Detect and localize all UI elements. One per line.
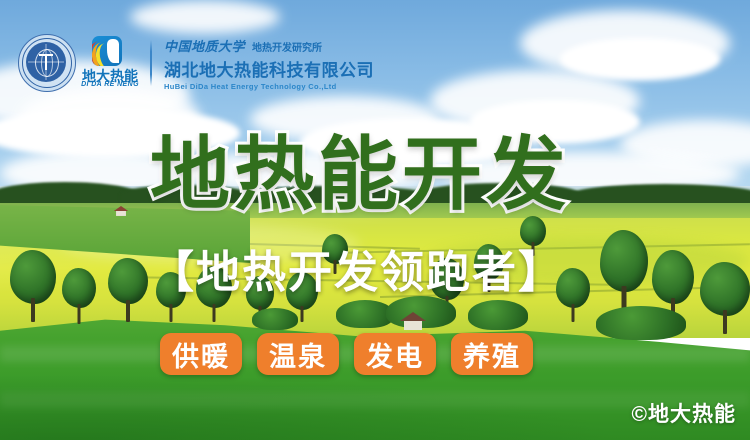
tree xyxy=(700,262,750,334)
copyright-watermark: ©地大热能 xyxy=(632,398,736,428)
brand-header: 地大热能 DI DA RE NENG 中国地质大学 地热开发研究所 湖北地大热能… xyxy=(18,30,374,96)
tree xyxy=(600,230,648,316)
farmhouse xyxy=(114,206,128,216)
main-title: 地热能开发 xyxy=(150,133,570,217)
shrub xyxy=(252,308,298,330)
tree xyxy=(10,250,56,322)
dida-logo-icon: 地大热能 DI DA RE NENG xyxy=(86,35,134,91)
badge-heating[interactable]: 供暖 xyxy=(160,333,242,375)
tree xyxy=(62,268,96,324)
tree xyxy=(108,258,148,322)
organisation-text-block: 中国地质大学 地热开发研究所 湖北地大热能科技有限公司 HuBei DiDa H… xyxy=(164,36,374,91)
university-seal-icon xyxy=(18,34,76,92)
cloud-shape xyxy=(130,0,280,34)
shrub xyxy=(468,300,528,330)
company-name-cn: 湖北地大热能科技有限公司 xyxy=(164,56,374,81)
institute-name: 地热开发研究所 xyxy=(252,39,322,54)
brand-name-en: DI DA RE NENG xyxy=(76,81,144,88)
badge-aquaculture[interactable]: 养殖 xyxy=(451,333,533,375)
service-badge-row: 供暖 温泉 发电 养殖 xyxy=(160,333,533,375)
header-divider xyxy=(150,40,152,86)
cloud-shape xyxy=(560,38,720,80)
farmhouse xyxy=(400,312,426,330)
badge-power-generation[interactable]: 发电 xyxy=(354,333,436,375)
badge-hot-spring[interactable]: 温泉 xyxy=(257,333,339,375)
geothermal-promo-banner: 地大热能 DI DA RE NENG 中国地质大学 地热开发研究所 湖北地大热能… xyxy=(0,0,750,440)
subtitle: 【地热开发领跑者】 xyxy=(150,248,564,298)
company-name-en: HuBei DiDa Heat Energy Technology Co.,Lt… xyxy=(164,82,374,91)
university-name: 中国地质大学 xyxy=(164,36,245,55)
shrub xyxy=(596,306,686,340)
